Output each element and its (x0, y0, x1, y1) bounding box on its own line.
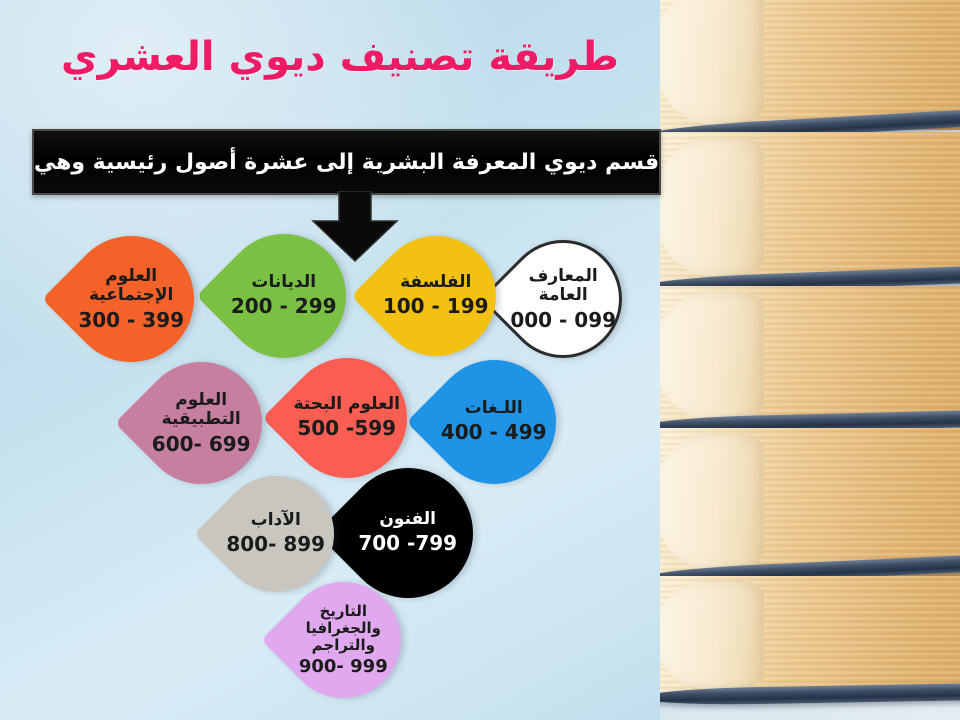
drop-range-languages: 400 - 499 (432, 422, 556, 445)
drop-range-arts: 700 -799 (343, 533, 473, 556)
drop-range-religions: 200 - 299 (222, 296, 346, 319)
drop-label-languages: اللـغات (432, 399, 556, 418)
book-stack-photo (660, 0, 960, 720)
infographic-slide: طريقة تصنيف ديوي العشري قسم ديوي المعرفة… (0, 0, 960, 720)
drop-label-pure-sciences: العلوم البحتة (287, 395, 407, 414)
drop-label-literature: الآداب (218, 511, 334, 530)
drop-general-knowledge[interactable]: المعارف العامة000 - 099 (480, 216, 647, 383)
drop-label-religions: الديانات (222, 273, 346, 292)
drop-label-social-sciences: العلوم الإجتماعية (68, 267, 194, 306)
drop-range-pure-sciences: 500 -599 (287, 418, 407, 441)
drop-range-general-knowledge: 000 - 099 (507, 308, 619, 331)
drop-label-applied-sciences: العلوم التطبيقية (140, 391, 262, 430)
drop-range-applied-sciences: 600- 699 (140, 432, 262, 455)
drop-label-philosophy: الفلسفة (376, 273, 496, 292)
drop-range-philosophy: 100 - 199 (376, 296, 496, 319)
drop-label-history-geography: التاريخ والجغرافيا والتراجم (285, 603, 401, 654)
page-title: طريقة تصنيف ديوي العشري (20, 34, 660, 80)
drop-range-literature: 800- 899 (218, 534, 334, 557)
drop-range-history-geography: 900- 999 (285, 657, 401, 678)
intro-banner: قسم ديوي المعرفة البشرية إلى عشرة أصول ر… (32, 129, 661, 195)
drop-range-social-sciences: 300 - 399 (68, 308, 194, 331)
intro-banner-text: قسم ديوي المعرفة البشرية إلى عشرة أصول ر… (24, 150, 669, 175)
drop-label-general-knowledge: المعارف العامة (507, 267, 619, 306)
drop-label-arts: الفنون (343, 510, 473, 529)
